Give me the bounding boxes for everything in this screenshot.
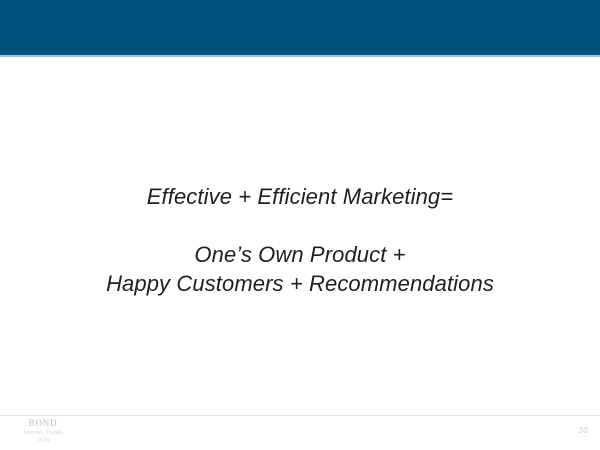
page-number: 30 (579, 426, 589, 435)
message-line-spacer (0, 211, 600, 240)
message-line-2: One’s Own Product + (0, 240, 600, 269)
message-line-1: Effective + Efficient Marketing= (0, 182, 600, 211)
message-block: Effective + Efficient Marketing= One’s O… (0, 182, 600, 298)
bond-wordmark: BOND (6, 419, 80, 428)
bond-report-label: Internet Trends (6, 430, 80, 436)
footer-divider (0, 415, 600, 416)
slide: Effective + Efficient Marketing= One’s O… (0, 0, 600, 450)
message-line-3: Happy Customers + Recommendations (0, 269, 600, 298)
bond-logo: BOND Internet Trends 2019 (6, 419, 80, 444)
header-band (0, 0, 600, 55)
bond-report-year: 2019 (6, 438, 80, 444)
slide-body: Effective + Efficient Marketing= One’s O… (0, 57, 600, 413)
